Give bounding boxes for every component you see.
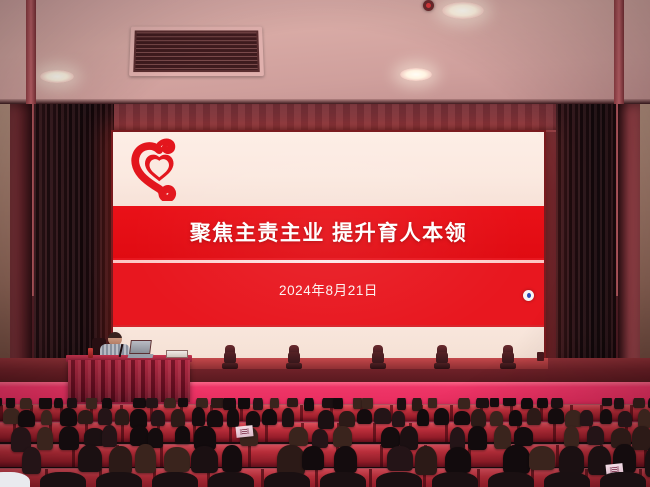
audience-member	[175, 426, 190, 444]
seat-divider	[121, 423, 124, 442]
name-plate	[166, 350, 188, 358]
audience-member	[357, 409, 372, 425]
audience-member	[18, 410, 35, 427]
audience-member	[374, 408, 391, 423]
audience-member	[312, 429, 329, 448]
seat-divider	[445, 423, 448, 442]
audience-member	[600, 409, 613, 425]
auditorium-photo: 聚焦主责主业 提升育人本领 2024年8月21日	[0, 0, 650, 487]
audience-member	[602, 398, 611, 406]
red-heart-swirl-logo-icon	[127, 137, 189, 201]
audience-member	[264, 472, 310, 487]
ceiling-air-vent	[129, 27, 264, 77]
audience-member	[151, 410, 164, 426]
audience-member	[417, 409, 429, 426]
audience-member	[164, 447, 190, 472]
audience-member	[304, 398, 315, 411]
seat-divider	[450, 405, 453, 421]
audience-member	[289, 427, 307, 446]
moving-head-light-3	[370, 345, 386, 369]
audience-member	[600, 472, 646, 487]
audience-member	[152, 472, 198, 487]
led-screen-frame: 聚焦主责主业 提升育人本领 2024年8月21日	[111, 130, 546, 367]
audience-member	[353, 398, 362, 409]
audience-member	[397, 398, 406, 410]
seat-divider	[373, 423, 376, 442]
audience-member	[362, 398, 372, 409]
audience-member	[196, 398, 209, 408]
audience-member	[171, 409, 185, 427]
audience-member	[20, 398, 32, 409]
audience-member	[334, 446, 357, 473]
audience-member	[587, 426, 604, 445]
audience-member	[39, 398, 52, 409]
audience-member	[130, 409, 147, 427]
screen-title: 聚焦主责主业 提升育人本领	[113, 206, 544, 258]
audience-member	[333, 426, 352, 447]
audience-member	[434, 408, 449, 425]
audience-member	[178, 398, 189, 407]
audience-member	[509, 410, 522, 425]
ceiling-downlight-left	[40, 70, 74, 83]
audience-member	[333, 398, 343, 409]
audience-area	[0, 398, 650, 487]
audience-member	[514, 427, 534, 445]
screen-date: 2024年8月21日	[113, 263, 544, 315]
audience-member	[445, 447, 472, 474]
audience-member	[521, 398, 533, 409]
audience-member	[387, 446, 414, 471]
audience-member	[222, 445, 243, 472]
audience-member	[551, 398, 563, 408]
audience-member	[632, 426, 650, 450]
audience-member	[432, 472, 478, 487]
audience-member	[468, 426, 487, 450]
audience-member	[262, 409, 277, 426]
ceiling-downlight-center	[400, 68, 432, 81]
seat-divider	[315, 469, 318, 487]
smoke-detector	[423, 0, 434, 11]
audience-member	[490, 411, 503, 426]
audience-member	[253, 398, 262, 410]
audience-member	[102, 425, 117, 447]
seat-divider	[553, 423, 556, 442]
audience-member	[287, 398, 299, 407]
audience-member	[559, 446, 584, 474]
audience-member	[227, 408, 239, 427]
moving-head-light-4	[434, 345, 450, 369]
audience-member	[86, 398, 97, 409]
printed-handout	[235, 425, 253, 438]
audience-member	[544, 472, 590, 487]
audience-member	[238, 398, 250, 409]
audience-member	[109, 446, 132, 474]
audience-member	[537, 398, 548, 408]
audience-member	[40, 472, 86, 487]
audience-member	[458, 398, 471, 409]
audience-member	[22, 447, 41, 474]
audience-member	[54, 398, 63, 408]
audience-member	[564, 426, 579, 448]
audience-member	[471, 409, 486, 428]
audience-member	[0, 398, 2, 406]
audience-member	[488, 472, 534, 487]
audience-member	[78, 410, 94, 425]
audience-member	[476, 398, 489, 408]
audience-member	[527, 408, 541, 425]
audience-member	[208, 472, 254, 487]
audience-member	[339, 411, 355, 428]
audience-member	[376, 472, 422, 487]
audience-member	[490, 398, 499, 407]
audience-member	[320, 472, 366, 487]
audience-member	[207, 410, 223, 427]
audience-member	[37, 427, 53, 450]
audience-member	[318, 410, 334, 429]
screen-top-band	[113, 132, 544, 209]
audience-member	[133, 398, 146, 408]
audience-member	[164, 398, 176, 408]
audience-member	[428, 398, 437, 408]
audience-member	[78, 445, 102, 473]
audience-member	[59, 426, 80, 450]
stage-side-object	[537, 352, 544, 361]
moving-head-light-1	[222, 345, 238, 369]
moving-head-light-5	[500, 345, 516, 369]
audience-member	[282, 408, 294, 427]
seat-divider	[380, 445, 383, 467]
audience-member	[192, 407, 205, 426]
seat-divider	[160, 445, 163, 467]
audience-member	[503, 398, 516, 406]
audience-member	[96, 472, 142, 487]
screen-sensor-dot	[523, 290, 534, 301]
audience-member	[246, 411, 260, 427]
audience-member	[618, 411, 632, 427]
audience-member	[146, 398, 158, 408]
audience-member	[633, 398, 646, 408]
audience-member	[580, 410, 592, 426]
audience-member	[548, 408, 564, 423]
audience-member	[115, 409, 128, 425]
audience-member	[415, 446, 437, 474]
audience-member	[191, 446, 218, 474]
seat-divider	[248, 445, 251, 467]
seat-divider	[369, 469, 372, 487]
audience-member	[6, 398, 16, 408]
audience-member	[614, 398, 625, 409]
audience-member	[503, 445, 530, 473]
audience-member	[135, 444, 156, 473]
audience-member	[302, 446, 323, 470]
ceiling	[0, 0, 650, 104]
led-screen: 聚焦主责主业 提升育人本领 2024年8月21日	[113, 132, 544, 365]
drinking-cup	[88, 348, 93, 358]
audience-member	[381, 427, 400, 448]
laptop	[128, 340, 152, 358]
audience-member	[392, 411, 404, 427]
audience-member	[60, 408, 77, 426]
moving-head-light-2	[286, 345, 302, 369]
audience-member	[41, 410, 53, 425]
audience-member	[638, 409, 650, 428]
ceiling-downlight-right	[442, 2, 484, 19]
seat-divider	[265, 423, 268, 442]
audience-member	[454, 411, 470, 425]
seat-divider	[300, 405, 303, 421]
audience-member	[98, 408, 111, 425]
audience-member	[270, 398, 279, 408]
audience-member	[529, 446, 555, 470]
audience-member	[67, 398, 77, 408]
presenter-table-skirt	[68, 360, 190, 402]
